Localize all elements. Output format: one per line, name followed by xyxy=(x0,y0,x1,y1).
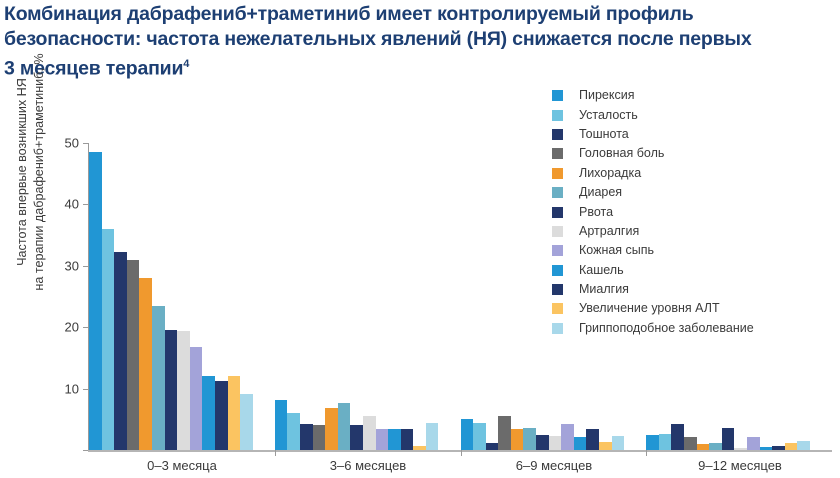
legend-item-label: Миалгия xyxy=(579,283,629,296)
legend-item[interactable]: Пирексия xyxy=(552,86,838,105)
legend-color-swatch xyxy=(552,168,563,179)
bar[interactable] xyxy=(190,347,203,450)
bar[interactable] xyxy=(461,419,474,450)
legend-color-swatch xyxy=(552,110,563,121)
bar[interactable] xyxy=(240,394,253,450)
y-axis-tick-mark xyxy=(83,266,88,267)
legend-item[interactable]: Усталость xyxy=(552,105,838,124)
bar[interactable] xyxy=(376,429,389,450)
legend-item-label: Артралгия xyxy=(579,225,639,238)
x-axis-labels: 0–3 месяца3–6 месяцев6–9 месяцев9–12 мес… xyxy=(89,458,833,473)
bar[interactable] xyxy=(785,443,798,450)
y-axis-tick-label: 30 xyxy=(65,258,79,273)
legend-item-label: Диарея xyxy=(579,186,622,199)
bar[interactable] xyxy=(734,448,747,450)
legend-item-label: Усталость xyxy=(579,109,638,122)
bar[interactable] xyxy=(388,429,401,450)
legend-color-swatch xyxy=(552,207,563,218)
y-axis-tick-mark xyxy=(83,450,88,451)
bar[interactable] xyxy=(612,436,625,450)
bar[interactable] xyxy=(275,400,288,450)
bar[interactable] xyxy=(536,435,549,450)
legend-item[interactable]: Гриппоподобное заболевание xyxy=(552,319,838,338)
legend-item-label: Гриппоподобное заболевание xyxy=(579,322,754,335)
bar[interactable] xyxy=(139,278,152,450)
bar[interactable] xyxy=(127,260,140,450)
bar[interactable] xyxy=(586,429,599,450)
legend-item-label: Увеличение уровня АЛТ xyxy=(579,302,720,315)
bar[interactable] xyxy=(114,252,127,450)
x-axis-category-label: 9–12 месяцев xyxy=(647,458,833,473)
bar[interactable] xyxy=(413,446,426,450)
bar[interactable] xyxy=(511,429,524,450)
x-axis-category-label: 0–3 месяца xyxy=(89,458,275,473)
bar[interactable] xyxy=(102,229,115,450)
y-axis-tick-mark xyxy=(83,327,88,328)
legend-item[interactable]: Увеличение уровня АЛТ xyxy=(552,299,838,318)
bar[interactable] xyxy=(401,429,414,450)
legend-item-label: Лихорадка xyxy=(579,167,641,180)
x-axis-group-tick xyxy=(646,450,647,456)
bar[interactable] xyxy=(363,416,376,450)
legend-item[interactable]: Рвота xyxy=(552,202,838,221)
y-axis-tick-label: 50 xyxy=(65,136,79,151)
legend-color-swatch xyxy=(552,245,563,256)
legend-color-swatch xyxy=(552,90,563,101)
x-axis-category-label: 3–6 месяцев xyxy=(275,458,461,473)
legend-color-swatch xyxy=(552,148,563,159)
x-axis-category-label: 6–9 месяцев xyxy=(461,458,647,473)
legend-color-swatch xyxy=(552,187,563,198)
y-axis-tick-mark xyxy=(83,143,88,144)
bar[interactable] xyxy=(797,441,810,450)
bar[interactable] xyxy=(177,331,190,450)
bar[interactable] xyxy=(426,423,439,450)
bar[interactable] xyxy=(202,376,215,450)
legend-item[interactable]: Кожная сыпь xyxy=(552,241,838,260)
bar[interactable] xyxy=(89,152,102,450)
bar[interactable] xyxy=(684,437,697,451)
bar[interactable] xyxy=(473,423,486,450)
bar[interactable] xyxy=(300,424,313,450)
legend-item[interactable]: Головная боль xyxy=(552,144,838,163)
bar[interactable] xyxy=(722,428,735,450)
bar[interactable] xyxy=(498,416,511,450)
bar[interactable] xyxy=(215,381,228,450)
legend-item[interactable]: Миалгия xyxy=(552,280,838,299)
bar[interactable] xyxy=(523,428,536,450)
bar[interactable] xyxy=(228,376,241,450)
legend: ПирексияУсталостьТошнотаГоловная больЛих… xyxy=(552,86,838,338)
legend-color-swatch xyxy=(552,284,563,295)
legend-item-label: Рвота xyxy=(579,206,613,219)
bar[interactable] xyxy=(549,436,562,450)
y-axis-tick-mark xyxy=(83,204,88,205)
legend-item[interactable]: Артралгия xyxy=(552,222,838,241)
bar[interactable] xyxy=(152,306,165,450)
y-axis-title: Частота впервые возникших НЯ на терапии … xyxy=(14,22,48,322)
legend-item-label: Пирексия xyxy=(579,89,634,102)
bar[interactable] xyxy=(709,443,722,450)
legend-item-label: Головная боль xyxy=(579,147,664,160)
bar[interactable] xyxy=(338,403,351,450)
legend-item-label: Кожная сыпь xyxy=(579,244,654,257)
bar-group xyxy=(275,143,461,450)
x-axis-group-tick xyxy=(275,450,276,456)
bar[interactable] xyxy=(287,413,300,450)
bar[interactable] xyxy=(772,446,785,450)
legend-color-swatch xyxy=(552,226,563,237)
legend-color-swatch xyxy=(552,265,563,276)
legend-item-label: Тошнота xyxy=(579,128,629,141)
legend-color-swatch xyxy=(552,323,563,334)
y-axis-tick-mark xyxy=(83,389,88,390)
legend-item[interactable]: Тошнота xyxy=(552,125,838,144)
y-axis-title-line-1: Частота впервые возникших НЯ xyxy=(14,22,31,322)
y-axis-title-line-2: на терапии дабрафениб+траметиниб, % xyxy=(31,22,48,322)
bar-group xyxy=(89,143,275,450)
bar[interactable] xyxy=(747,437,760,451)
legend-item-label: Кашель xyxy=(579,264,624,277)
legend-color-swatch xyxy=(552,303,563,314)
bar[interactable] xyxy=(165,330,178,450)
bar[interactable] xyxy=(325,408,338,450)
y-axis-tick-label: 20 xyxy=(65,320,79,335)
y-axis-tick-label: 40 xyxy=(65,197,79,212)
legend-item[interactable]: Кашель xyxy=(552,261,838,280)
bar[interactable] xyxy=(659,434,672,450)
x-axis-group-tick xyxy=(461,450,462,456)
legend-color-swatch xyxy=(552,129,563,140)
bar[interactable] xyxy=(350,425,363,450)
bar[interactable] xyxy=(313,425,326,450)
bar[interactable] xyxy=(574,437,587,450)
bar[interactable] xyxy=(599,442,612,450)
bar[interactable] xyxy=(671,424,684,450)
bar[interactable] xyxy=(486,443,499,450)
bar[interactable] xyxy=(697,444,710,450)
legend-item[interactable]: Диарея xyxy=(552,183,838,202)
legend-item[interactable]: Лихорадка xyxy=(552,164,838,183)
bar[interactable] xyxy=(646,435,659,450)
bar[interactable] xyxy=(760,447,773,450)
bar[interactable] xyxy=(561,424,574,450)
y-axis-tick-label: 10 xyxy=(65,381,79,396)
